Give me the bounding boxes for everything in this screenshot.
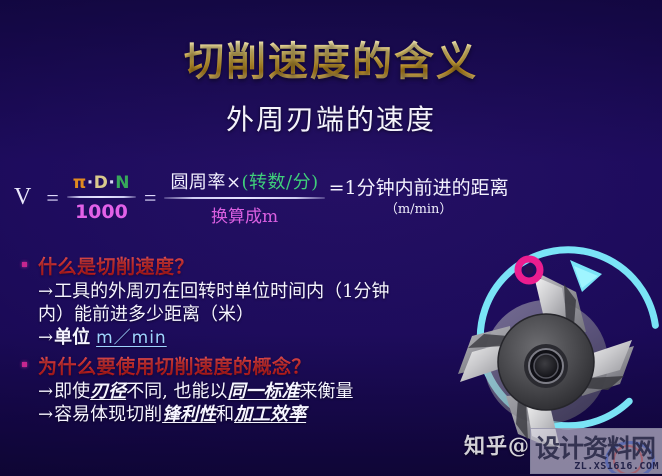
emphasis-term: 同一标准 (228, 381, 300, 402)
arrow-icon: → (38, 404, 53, 425)
sub-line: →工具的外周刃在回转时单位时间内（1分钟 (38, 280, 486, 303)
sub-line: 内）能前进多少距离（米） (38, 303, 486, 326)
formula-numerator-symbolic: π·D·N (67, 173, 136, 196)
slide-canvas: 切削速度的含义 外周刃端的速度 V = π·D·N 1000 = 圆周率×(转数… (0, 0, 662, 476)
emphasis-term: 锋利性 (162, 404, 216, 425)
sub-line-text: 内）能前进多少距离（米） (38, 304, 254, 325)
bullet-heading: 什么是切削速度？ (38, 252, 194, 279)
formula-times-sign: × (226, 172, 242, 193)
body-content: 什么是切削速度？ →工具的外周刃在回转时单位时间内（1分钟 内）能前进多少距离（… (16, 252, 486, 426)
formula-equals-2: = (136, 185, 164, 211)
emphasis-term: 刃径 (90, 381, 126, 402)
page-subtitle: 外周刃端的速度 (0, 98, 662, 138)
page-title: 切削速度的含义 (0, 40, 662, 83)
formula-result-text: =1分钟内前进的距离 (329, 178, 509, 199)
formula-denominator-label: 换算成m (205, 199, 284, 227)
formula-variable-v: V (14, 184, 38, 211)
formula-rpm-n: N (115, 173, 130, 193)
formula-equals-1: = (38, 185, 66, 211)
arrow-icon: → (38, 381, 53, 402)
formula-result: =1分钟内前进的距离 （m/min） (329, 178, 509, 217)
watermark: 知乎@ 设计资料网 ZL.XS1616.COM (462, 424, 662, 476)
sub-line: →即使刃径不同, 也能以同一标准来衡量 (38, 380, 486, 403)
sub-line-text: 不同, 也能以 (126, 381, 227, 402)
formula-diameter-d: D (94, 173, 109, 193)
formula-pi-label: 圆周率 (170, 172, 226, 193)
formula-rpm-label: (转数/分) (242, 172, 319, 193)
sub-line-text: 来衡量 (300, 381, 354, 402)
unit-label: 单位 (54, 327, 90, 348)
watermark-url: ZL.XS1616.COM (574, 461, 659, 472)
sub-line-text: 和 (216, 404, 234, 425)
bullet-dot-icon (22, 362, 27, 367)
unit-value: m／min (96, 328, 167, 348)
formula-pi: π (73, 173, 87, 193)
watermark-box: 设计资料网 ZL.XS1616.COM (530, 428, 662, 474)
bullet-row: 什么是切削速度？ (16, 252, 486, 279)
bullet-dot-icon (22, 262, 27, 267)
sub-line-text: 容易体现切削 (54, 404, 162, 425)
formula-numerator-verbal: 圆周率×(转数/分) (164, 168, 324, 197)
formula-fraction-verbal: 圆周率×(转数/分) 换算成m (164, 168, 324, 227)
arrow-icon: → (38, 327, 53, 348)
arrow-icon: → (38, 281, 53, 302)
bullet-row: 为什么要使用切削速度的概念？ (16, 352, 486, 379)
cutting-speed-formula: V = π·D·N 1000 = 圆周率×(转数/分) 换算成m =1分钟内前进… (14, 168, 509, 227)
watermark-site-name: 设计资料网 (535, 429, 655, 465)
formula-dot-1: · (87, 173, 94, 193)
tip-marker-icon (518, 259, 540, 281)
bullet-heading: 为什么要使用切削速度的概念？ (38, 352, 311, 379)
emphasis-term: 加工效率 (234, 404, 306, 425)
sub-line: →容易体现切削锋利性和加工效率 (38, 403, 486, 426)
formula-result-unit: （m/min） (385, 203, 453, 217)
formula-denominator-1000: 1000 (69, 198, 134, 223)
sub-line-unit: →单位m／min (38, 326, 486, 350)
sub-line-text: 工具的外周刃在回转时单位时间内（1分钟 (54, 281, 389, 302)
watermark-author: 知乎@ (464, 430, 530, 460)
formula-fraction-symbolic: π·D·N 1000 (67, 173, 136, 223)
sub-line-text: 即使 (54, 381, 90, 402)
